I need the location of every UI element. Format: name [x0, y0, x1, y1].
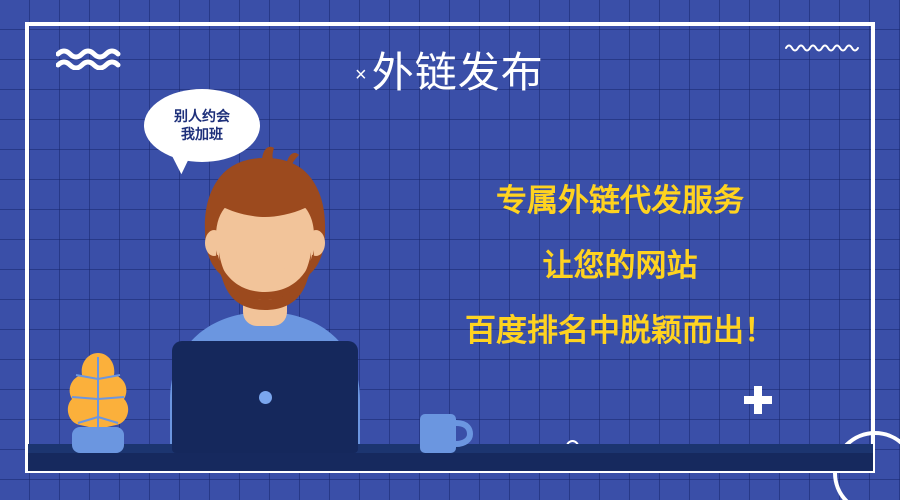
desk-surface [28, 453, 873, 471]
laptop [172, 341, 358, 453]
speech-bubble-line-1: 别人约会 [174, 108, 230, 126]
speech-bubble: 别人约会 我加班 [144, 89, 260, 162]
speech-bubble-line-2: 我加班 [181, 126, 223, 144]
laptop-logo-icon [259, 391, 272, 404]
coffee-mug [418, 410, 476, 455]
speech-bubble-text: 别人约会 我加班 [144, 89, 260, 162]
potted-plant [52, 345, 144, 455]
poster-canvas: ×外链发布 专属外链代发服务 让您的网站 百度排名中脱颖而出！ [0, 0, 900, 500]
